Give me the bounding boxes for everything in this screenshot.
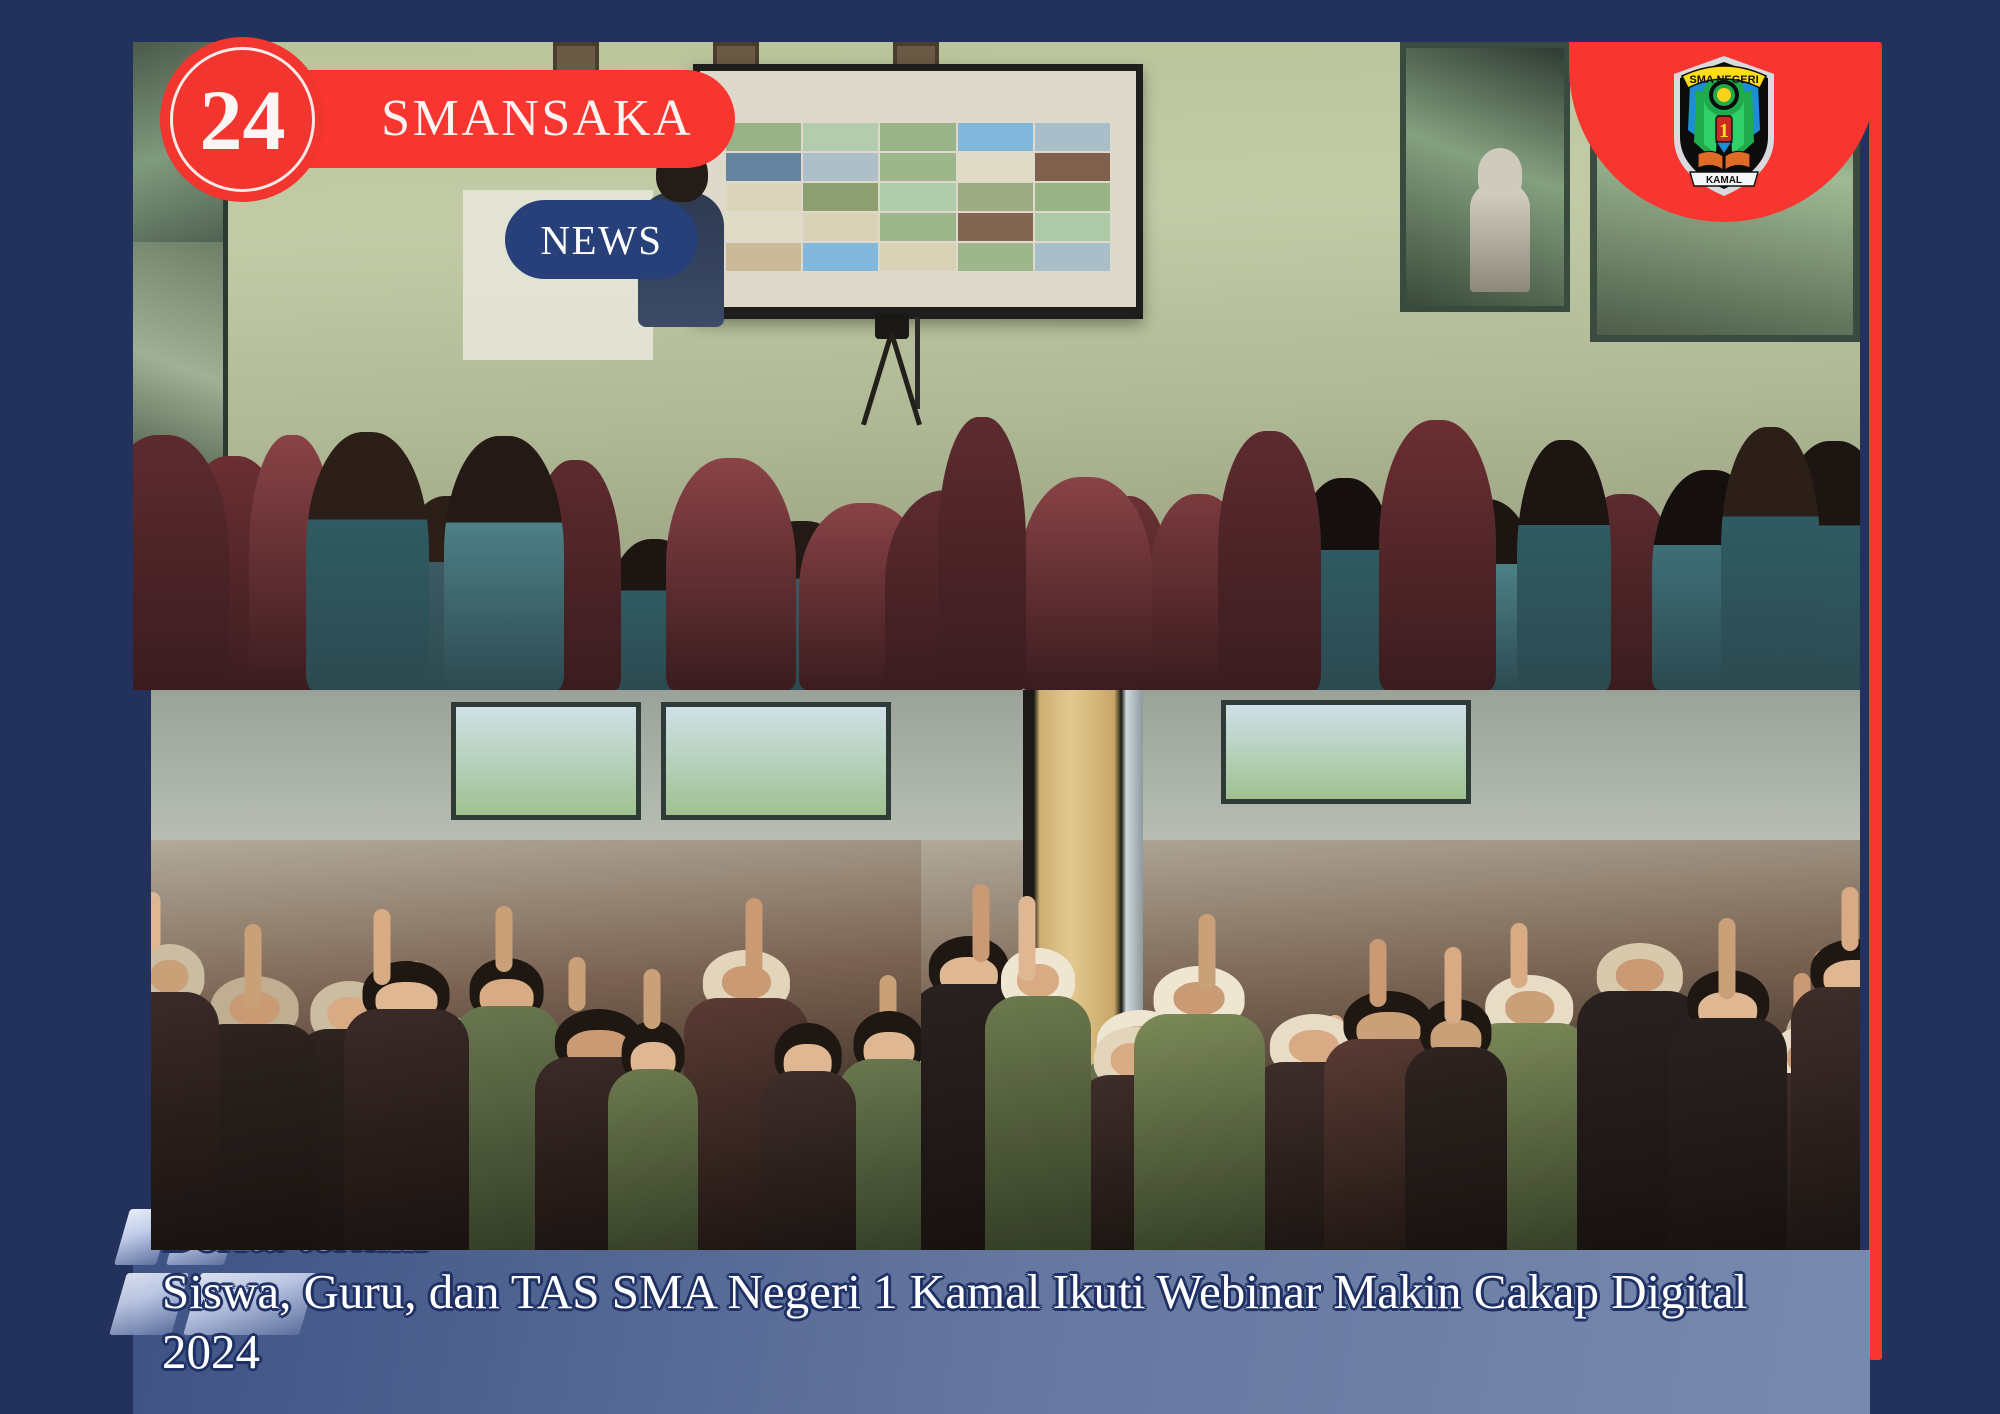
photo-collage: [133, 42, 1860, 1250]
student-figure: [666, 458, 796, 691]
torso: [985, 996, 1092, 1250]
photo-group-left: [151, 690, 921, 1250]
raised-hand: [1445, 947, 1462, 1024]
red-accent-bar: [1869, 42, 1882, 1360]
torso: [1791, 987, 1860, 1250]
channel-name-label: SMANSAKA: [381, 93, 693, 145]
face: [1505, 991, 1554, 1024]
student-figure: [306, 432, 430, 690]
group-photo-person: [363, 961, 450, 1250]
school-crest-icon: SMA NEGERI 1 KAMAL: [1660, 50, 1788, 200]
torso: [151, 992, 219, 1250]
channel-number-label: 24: [200, 77, 286, 163]
group-photo-person: [621, 1021, 684, 1250]
crest-school-text: SMA NEGERI: [1689, 74, 1758, 86]
group-photo-person: [1001, 948, 1075, 1250]
group-photo-person: [1420, 999, 1491, 1250]
group-photo-person: [151, 944, 204, 1250]
raised-hand: [1019, 896, 1036, 981]
raised-hand: [1719, 918, 1736, 998]
torso: [1669, 1018, 1787, 1250]
projector-screen: [693, 64, 1143, 319]
raised-hand: [1198, 914, 1215, 991]
caption-headline: Siswa, Guru, dan TAS SMA Negeri 1 Kamal …: [162, 1262, 1852, 1382]
raised-hand: [568, 957, 585, 1011]
student-figure: [938, 417, 1026, 690]
student-figure: [444, 436, 563, 690]
raised-hand: [1511, 923, 1528, 987]
crowd-right: [921, 780, 1860, 1250]
teacher-head: [1478, 148, 1522, 196]
crest-number-text: 1: [1719, 120, 1729, 142]
news-graphic-canvas: SMANSAKA 24 NEWS SMA NEGERI: [0, 0, 2000, 1414]
raised-hand: [496, 906, 513, 972]
raised-hand: [1842, 887, 1859, 951]
crowd-left: [151, 780, 921, 1250]
group-photo-person: [775, 1023, 842, 1250]
group-photo-person: [1154, 966, 1245, 1250]
student-figure: [1379, 420, 1496, 690]
student-figure: [1721, 427, 1820, 690]
raised-hand: [244, 924, 261, 1010]
face: [151, 960, 189, 993]
raised-hand: [1369, 939, 1386, 1008]
student-figure: [1019, 477, 1152, 690]
news-badge: NEWS: [505, 200, 698, 279]
seated-students: [133, 390, 1860, 690]
raised-hand: [972, 884, 989, 962]
group-photo-person: [210, 976, 299, 1250]
torso: [1134, 1014, 1265, 1250]
raised-hand: [374, 909, 391, 985]
torso: [1405, 1047, 1507, 1250]
group-photo-person: [469, 958, 544, 1250]
camera-head: [875, 313, 909, 339]
torso: [344, 1009, 469, 1250]
group-photo-person: [1811, 939, 1860, 1250]
raised-hand: [151, 892, 161, 951]
face: [1615, 959, 1663, 992]
teacher-figure: [1470, 182, 1530, 292]
video-conference-grid: [726, 123, 1110, 271]
news-badge-label: NEWS: [540, 216, 662, 264]
photo-group-right: [921, 690, 1860, 1250]
student-figure: [1218, 431, 1321, 690]
crest-ribbon-text: KAMAL: [1706, 175, 1742, 186]
torso: [608, 1069, 698, 1250]
group-photo-person: [1687, 970, 1769, 1250]
channel-number-badge: 24: [160, 37, 325, 202]
student-figure: [1517, 440, 1611, 690]
raised-hand: [644, 969, 661, 1029]
group-photo-person: [854, 1011, 921, 1250]
raised-hand: [746, 898, 763, 981]
torso: [760, 1071, 856, 1250]
